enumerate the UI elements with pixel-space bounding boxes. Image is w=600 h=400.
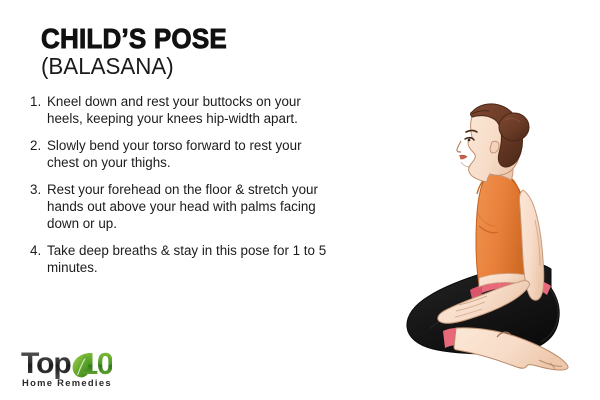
logo-number-ten: 10 [81,349,112,379]
orange-tank-top [476,174,528,284]
step-number: 2. [30,138,47,155]
brand-logo[interactable]: Top 10 Home Remedies [19,351,141,395]
step-text: Kneel down and rest your buttocks on you… [47,94,330,127]
page-subtitle: (BALASANA) [41,53,174,80]
logo-tagline: Home Remedies [22,377,112,388]
list-item: 2. Slowly bend your torso forward to res… [30,138,330,171]
step-text: Rest your forehead on the floor & stretc… [47,182,330,232]
page-title: CHILD’S POSE [41,24,227,54]
logo-word-top: Top [21,349,71,379]
step-number: 4. [30,243,47,260]
step-text: Take deep breaths & stay in this pose fo… [47,243,330,276]
list-item: 1. Kneel down and rest your buttocks on … [30,94,330,127]
poster-canvas: CHILD’S POSE (BALASANA) 1. Kneel down an… [0,0,600,400]
list-item: 3. Rest your forehead on the floor & str… [30,182,330,232]
pose-illustration [355,98,600,400]
woman-kneeling-figure [355,98,600,400]
step-number: 1. [30,94,47,111]
step-number: 3. [30,182,47,199]
text-column: CHILD’S POSE (BALASANA) 1. Kneel down an… [0,0,350,400]
instruction-list: 1. Kneel down and rest your buttocks on … [30,94,330,287]
head [457,104,529,182]
list-item: 4. Take deep breaths & stay in this pose… [30,243,330,276]
step-text: Slowly bend your torso forward to rest y… [47,138,330,171]
